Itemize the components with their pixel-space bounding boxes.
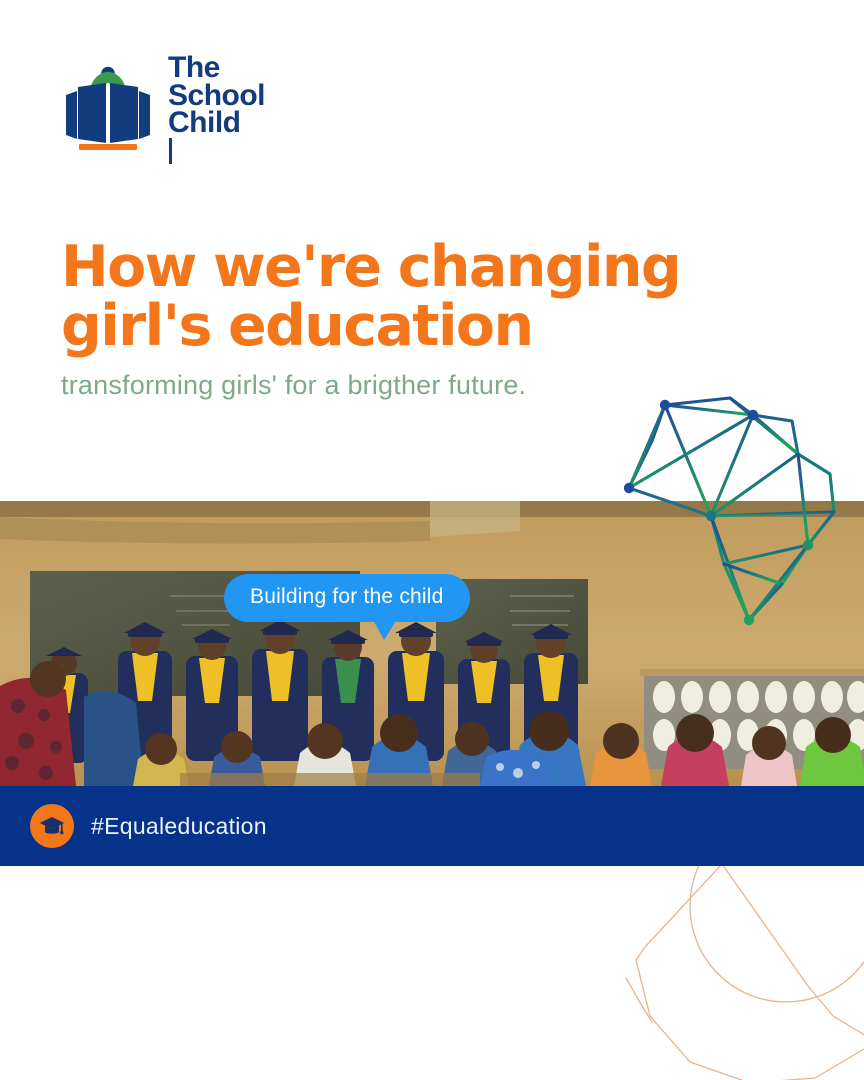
brand-name-line-2: School xyxy=(168,82,265,110)
hashtag-bar: #Equaleducation xyxy=(0,786,864,866)
brand-name-line-1: The xyxy=(168,54,265,82)
brand-wordmark: The School Child xyxy=(168,54,265,164)
brand-name-line-3: Child xyxy=(168,109,265,164)
graduation-cap-glyph xyxy=(39,815,65,838)
wordmark-caret xyxy=(169,138,172,164)
speech-bubble[interactable]: Building for the child xyxy=(224,574,470,622)
poster-canvas: The School Child How we're changing girl… xyxy=(0,0,864,1080)
photo-illustration xyxy=(0,501,864,786)
hashtag-label: #Equaleducation xyxy=(91,813,267,840)
open-book-with-child-icon xyxy=(62,65,154,153)
speech-bubble-tail xyxy=(372,618,398,640)
graduation-ceremony-photo xyxy=(0,501,864,786)
brand-name-line-3-text: Child xyxy=(168,109,265,137)
page-title: How we're changing girl's education xyxy=(61,238,801,357)
speech-bubble-text: Building for the child xyxy=(224,574,470,622)
page-subtitle: transforming girls' for a brigther futur… xyxy=(61,370,526,401)
graduation-cap-icon xyxy=(30,804,74,848)
headline-block: How we're changing girl's education xyxy=(61,238,801,357)
brand-logo[interactable]: The School Child xyxy=(62,54,265,164)
